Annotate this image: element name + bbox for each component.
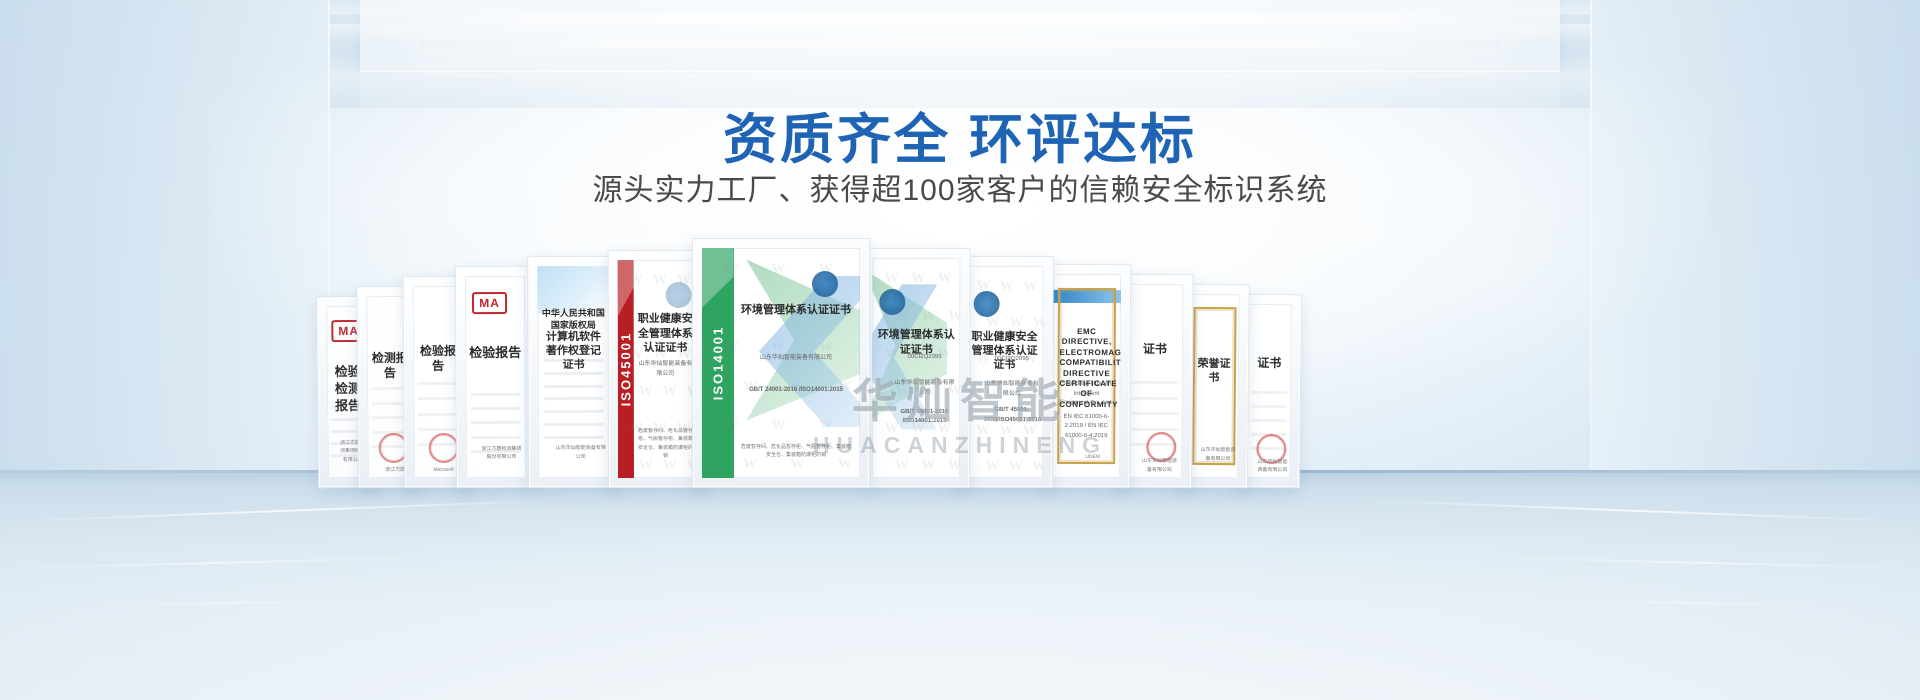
certificate-frame[interactable]: 中华人民共和国国家版权局计算机软件著作权登记证书山东华灿智能装备有限公司 bbox=[527, 256, 620, 488]
watermark-glyph: W bbox=[948, 458, 961, 474]
certificate-field-line bbox=[1250, 419, 1287, 422]
watermark-glyph: W bbox=[999, 423, 1013, 439]
floor-light-streak bbox=[60, 599, 390, 607]
certificate-wall: MA检验检测报告浙江方圆检测集团股份有限公司检测报告浙江方圆检验报告Micros… bbox=[0, 228, 1920, 488]
watermark-glyph: W bbox=[895, 458, 909, 474]
certificate-field-line bbox=[1131, 412, 1178, 415]
certificate-standard: GB/T 24001-2016 /ISO14001:2015 bbox=[740, 386, 852, 396]
certificate-sheet: ISO14001 WWWWWWWWWWWWWWWWWW 环境管理体系认证证书GB… bbox=[702, 248, 860, 478]
watermark-glyph: W bbox=[639, 458, 653, 474]
watermark-glyph: W bbox=[663, 384, 677, 400]
watermark-glyph: W bbox=[772, 418, 786, 434]
certificate-sheet: EMC DIRECTIVE, ELECTROMAGNETIC COMPATIBI… bbox=[1052, 274, 1121, 478]
floor-light-streak bbox=[1530, 599, 1860, 607]
certificate-number: 00CI2Q2095 bbox=[893, 353, 956, 363]
certificate-standard-code: ISO14001 bbox=[710, 326, 725, 401]
certificate-holder: 山东华灿智能装备有限公司 bbox=[1257, 457, 1288, 474]
spine-corner-accent bbox=[702, 248, 734, 308]
certificate-frame[interactable]: ISO14001 WWWWWWWWWWWWWWWWWW 环境管理体系认证证书GB… bbox=[692, 238, 870, 488]
certification-seal bbox=[973, 291, 999, 317]
page-title: 资质齐全 环评达标 bbox=[0, 95, 1920, 174]
ceiling-light-strip-3 bbox=[150, 72, 1770, 78]
certificate-sheet: 中华人民共和国国家版权局计算机软件著作权登记证书山东华灿智能装备有限公司 bbox=[537, 266, 610, 478]
certificate-content: 证书山东华灿智能装备有限公司 bbox=[1246, 304, 1292, 478]
certification-seal bbox=[665, 282, 691, 308]
certificate-number: 00CI2Q2095 bbox=[984, 355, 1039, 365]
certificate-sheet: 证书山东华灿智能装备有限公司 bbox=[1126, 284, 1183, 478]
certificate-content: 证书山东华灿智能装备有限公司 bbox=[1126, 284, 1183, 478]
watermark-glyph: W bbox=[1023, 423, 1037, 439]
watermark-glyph: W bbox=[1033, 315, 1044, 331]
certificate-holder: 山东华灿智能装备有限公司 bbox=[555, 444, 606, 461]
watermark-glyph: W bbox=[921, 458, 935, 474]
watermark-glyph: W bbox=[1032, 459, 1044, 475]
certification-seal bbox=[879, 289, 905, 315]
certificate-title: 证书 bbox=[1131, 342, 1178, 358]
watermark-glyph: W bbox=[948, 309, 960, 325]
watermark-glyph: W bbox=[985, 459, 999, 475]
certificate-issuer: 浙江方圆检测集团股份有限公司 bbox=[480, 445, 523, 462]
certificate-holder: 山东华灿智能装备有限公司 bbox=[740, 354, 852, 364]
cma-badge: MA bbox=[472, 292, 507, 314]
certificate-field-line bbox=[1131, 381, 1178, 384]
certificate-title: 荣誉证书 bbox=[1195, 356, 1233, 385]
certificate-field-line bbox=[543, 372, 604, 375]
certificate-sheet: ISO45001 WWWWWWWWWWWWWWWWWW职业健康安全管理体系认证证… bbox=[618, 260, 698, 478]
certificate-title: 证书 bbox=[1251, 356, 1288, 372]
certificate-holder: 山东华灿智能装备有限公司 bbox=[1140, 457, 1180, 474]
certificate-field-line bbox=[471, 435, 521, 438]
watermark-glyph: W bbox=[1023, 279, 1037, 295]
watermark-glyph: W bbox=[629, 273, 643, 289]
certificate-issuer: 中华人民共和国国家版权局 bbox=[542, 308, 605, 332]
certificate-holder: 山东华灿智能装备有限公司 bbox=[984, 380, 1039, 399]
certificate-scope: 危废暂存间、危化品暂存柜、气瓶暂存柜、集装箱安全仓、集装箱防爆柜的销 bbox=[637, 426, 694, 460]
ceiling-light-strip-1 bbox=[300, 14, 1620, 24]
certificate-field-line bbox=[417, 397, 459, 400]
certificate-field-line bbox=[543, 385, 604, 388]
watermark-glyph: W bbox=[838, 457, 852, 473]
watermark-glyph: W bbox=[1000, 279, 1014, 295]
floor-light-streak bbox=[0, 557, 430, 570]
certificate-signer: UDEM bbox=[1068, 453, 1116, 462]
certificate-field-line bbox=[1251, 391, 1288, 394]
certificate-content: MA检验报告浙江方圆检测集团股份有限公司 bbox=[465, 276, 526, 478]
certificate-field-line bbox=[1131, 396, 1178, 399]
certificate-frame[interactable]: WWWWWWWWWWWWWWWWWW环境管理体系认证证书00CI2Q2095山东… bbox=[862, 248, 970, 488]
certificate-content: ISO45001 WWWWWWWWWWWWWWWWWW职业健康安全管理体系认证证… bbox=[618, 260, 698, 478]
certificate-content: EMC DIRECTIVE, ELECTROMAGNETIC COMPATIBI… bbox=[1052, 274, 1121, 478]
certificate-field-line bbox=[544, 423, 605, 426]
certificate-title: 计算机软件著作权登记证书 bbox=[542, 329, 606, 372]
watermark-glyph: W bbox=[743, 457, 757, 473]
certificate-sheet: WWWWWWWWWWWWWWWWWW职业健康安全管理体系认证证书00CI2Q20… bbox=[965, 266, 1044, 478]
certificate-title: 职业健康安全管理体系认证证书 bbox=[970, 329, 1039, 372]
page-subtitle: 源头实力工厂、获得超100家客户的信赖安全标识系统 bbox=[0, 165, 1920, 209]
certificate-frame[interactable]: EMC DIRECTIVE, ELECTROMAGNETIC COMPATIBI… bbox=[1042, 264, 1131, 488]
certificate-sheet: 荣誉证书山东华灿智能装备有限公司 bbox=[1188, 294, 1240, 478]
certificate-holder: 山东华灿智能装备有限公司 bbox=[1200, 446, 1236, 463]
certificate-title: 检验报告 bbox=[469, 345, 522, 362]
certificate-holder: 山东华灿智能装备有限公司 bbox=[637, 360, 694, 379]
certificate-field-line bbox=[543, 359, 604, 362]
certificate-title: 职业健康安全管理体系认证证书 bbox=[637, 312, 694, 355]
certificate-title: 检验报告 bbox=[417, 343, 459, 374]
copyright-header-ornament bbox=[537, 266, 609, 313]
floor-light-streak bbox=[0, 499, 560, 522]
watermark-glyph: W bbox=[724, 340, 738, 356]
watermark-glyph: W bbox=[639, 384, 653, 400]
certificate-field-line bbox=[418, 428, 460, 431]
certificate-standard-code: ISO45001 bbox=[618, 332, 633, 407]
certificate-spine: ISO14001 bbox=[702, 248, 734, 478]
watermark-glyph: W bbox=[790, 457, 804, 473]
certificate-field-line bbox=[544, 435, 605, 438]
certificate-field-line bbox=[470, 393, 520, 396]
watermark-glyph: W bbox=[1009, 315, 1023, 331]
watermark-glyph: W bbox=[653, 273, 667, 289]
certificate-title: 环境管理体系认证证书 bbox=[740, 303, 852, 317]
floor bbox=[0, 470, 1920, 700]
certificate-content: ISO14001 WWWWWWWWWWWWWWWWWW 环境管理体系认证证书GB… bbox=[702, 248, 860, 478]
ceiling-panel bbox=[360, 0, 1560, 72]
certificate-field-line bbox=[1131, 427, 1178, 430]
certificate-field-line bbox=[470, 421, 520, 424]
certificate-spine: ISO45001 bbox=[618, 260, 634, 478]
certificate-sheet: WWWWWWWWWWWWWWWWWW环境管理体系认证证书00CI2Q2095山东… bbox=[872, 258, 960, 478]
certificate-field-line bbox=[470, 407, 520, 410]
certificate-sheet: 证书山东华灿智能装备有限公司 bbox=[1246, 304, 1292, 478]
floor-light-streak bbox=[1360, 499, 1920, 522]
watermark-glyph: W bbox=[986, 315, 1000, 331]
certificate-standard: EN IEC 61000-6-2:2019 / EN IEC 61000-6-4… bbox=[1059, 413, 1114, 442]
certificate-field-line bbox=[1250, 405, 1287, 408]
watermark-glyph: W bbox=[1009, 459, 1023, 475]
honor-gold-frame bbox=[1192, 307, 1236, 466]
certificate-holder: 山东华灿智能装备有限公司 bbox=[893, 379, 956, 398]
certificate-field-line bbox=[417, 382, 459, 385]
certificate-content: 中华人民共和国国家版权局计算机软件著作权登记证书山东华灿智能装备有限公司 bbox=[537, 266, 610, 478]
watermark-glyph: W bbox=[724, 418, 738, 434]
certificate-content: 荣誉证书山东华灿智能装备有限公司 bbox=[1188, 294, 1240, 478]
ceiling-light-strip-2 bbox=[420, 40, 1500, 47]
certificate-frame[interactable]: MA检验报告浙江方圆检测集团股份有限公司 bbox=[455, 266, 536, 488]
certificate-holder: Shandong Huacan Intelligent Equipment Co… bbox=[1059, 380, 1114, 409]
certificate-content: WWWWWWWWWWWWWWWWWW职业健康安全管理体系认证证书00CI2Q20… bbox=[965, 266, 1044, 478]
certification-seal bbox=[812, 271, 838, 297]
certificate-field-line bbox=[543, 397, 604, 400]
qualification-banner: 资质齐全 环评达标 源头实力工厂、获得超100家客户的信赖安全标识系统 MA检验… bbox=[0, 0, 1920, 700]
watermark-glyph: W bbox=[663, 458, 677, 474]
certificate-standard: GB/T 45001-2020/ISO45001:2018 bbox=[984, 406, 1039, 425]
red-stamp bbox=[429, 433, 459, 463]
watermark-glyph: W bbox=[724, 262, 738, 278]
certificate-sheet: MA检验报告浙江方圆检测集团股份有限公司 bbox=[465, 276, 526, 478]
certificate-standard: GB/T 24001-2016 /ISO14001:2015 bbox=[893, 408, 956, 427]
certificate-content: WWWWWWWWWWWWWWWWWW环境管理体系认证证书00CI2Q2095山东… bbox=[872, 258, 960, 478]
certificate-scope: 危废暂存间、危化品暂存柜、气瓶暂存柜、集装箱安全仓、集装箱防爆柜的销 bbox=[740, 443, 852, 460]
floor-light-streak bbox=[1490, 557, 1920, 570]
certificate-field-line bbox=[543, 410, 604, 413]
watermark-glyph: W bbox=[976, 423, 990, 439]
certificate-field-line bbox=[417, 413, 459, 416]
watermark-glyph: W bbox=[937, 271, 951, 287]
